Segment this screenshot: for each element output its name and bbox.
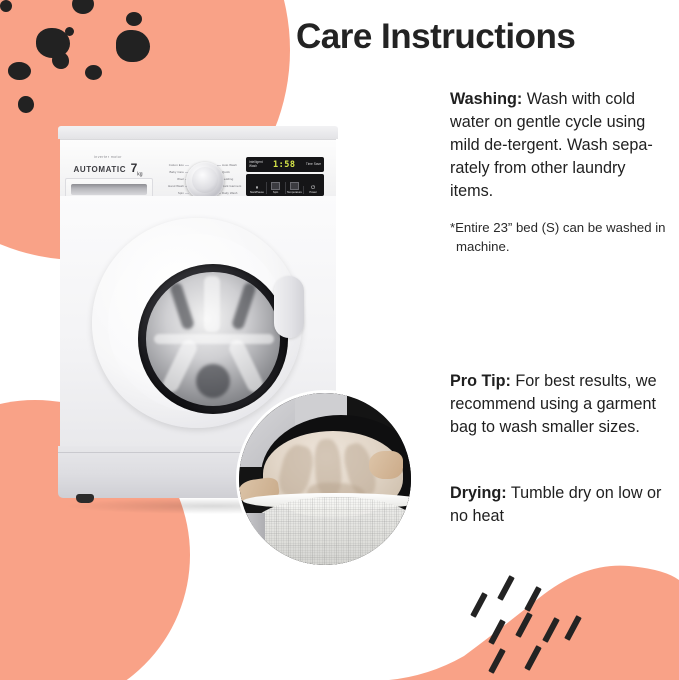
protip-section: Pro Tip: For best results, we recommend … [450, 370, 672, 439]
decorative-dot-4 [65, 27, 74, 36]
machine-top-panel [58, 126, 338, 139]
drying-section: Drying: Tumble dry on low or no heat [450, 482, 672, 528]
washing-paragraph: Washing: Wash with cold water on gentle … [450, 88, 670, 203]
detergent-drawer-handle[interactable] [71, 184, 147, 195]
program-tick-r-1 [217, 165, 221, 166]
decorative-dot-3 [116, 30, 150, 62]
door-handle[interactable] [274, 276, 304, 338]
inset-photo-laundry-bag [236, 390, 414, 568]
program-label-l-2: Baby Care [158, 170, 184, 174]
washing-label: Washing: [450, 90, 522, 108]
lcd-time-value: 1:58 [273, 160, 295, 170]
program-dial-inner[interactable] [192, 167, 218, 193]
machine-button-label: Spin [273, 191, 278, 194]
washing-footnote: *Entire 23” bed (S) can be washed in mac… [450, 219, 670, 256]
machine-button-label: Temperature [287, 191, 302, 194]
spin-icon [271, 182, 280, 190]
machine-button-row: ⏸Start/PauseSpinTemperature⏻Power [246, 174, 324, 196]
machine-control-panel: inverter motor AUTOMATIC 7kg Cotton EcoB… [60, 139, 336, 197]
decorative-dot-7 [85, 65, 102, 80]
mesh-laundry-bag [245, 497, 414, 568]
lcd-display: Intelligent Wash 1:58 Time Save [246, 157, 324, 172]
drum-spoke-top [204, 276, 220, 332]
inset-bed-trim-right [369, 451, 403, 479]
washing-section: Washing: Wash with cold water on gentle … [450, 88, 670, 256]
program-label-l-4: Hand Wash [158, 184, 184, 188]
decorative-dot-9 [126, 12, 142, 26]
protip-paragraph: Pro Tip: For best results, we recommend … [450, 370, 672, 439]
brand-name: AUTOMATIC [73, 165, 126, 174]
machine-button-start-pause[interactable]: ⏸Start/Pause [248, 186, 266, 195]
drum-shadow-bottom [196, 364, 230, 398]
page-title: Care Instructions [296, 18, 666, 57]
machine-button-temperature[interactable]: Temperature [285, 182, 304, 194]
door-gasket-ring [138, 264, 288, 414]
machine-brand: inverter motor AUTOMATIC 7kg [66, 156, 150, 177]
program-dial[interactable] [186, 162, 224, 200]
mesh-texture [245, 497, 414, 568]
drying-label: Drying: [450, 484, 507, 502]
program-tick-l-5 [185, 193, 189, 194]
drum-spoke-left [161, 337, 200, 394]
program-label-r-2: Quick [222, 170, 248, 174]
program-label-r-3: Bedding [222, 177, 248, 181]
machine-button-label: Start/Pause [250, 191, 264, 194]
machine-foot [76, 494, 94, 503]
decorative-dot-10 [0, 0, 12, 12]
drum-spoke-right [227, 337, 266, 394]
inset-door-edge [239, 513, 265, 568]
lcd-left-label: Intelligent Wash [249, 161, 263, 168]
door-glass-drum [146, 272, 280, 406]
temperature-icon [290, 182, 299, 190]
machine-button-spin[interactable]: Spin [266, 182, 285, 194]
decorative-dot-5 [52, 52, 69, 69]
program-label-l-1: Cotton Eco [158, 163, 184, 167]
drum-shadow-left [169, 281, 195, 330]
drum-spoke-cross [154, 334, 274, 344]
machine-button-power[interactable]: ⏻Power [303, 186, 322, 195]
protip-label: Pro Tip: [450, 372, 511, 390]
lcd-right-label: Time Save [306, 163, 321, 167]
drum-shadow-right [231, 281, 257, 330]
program-label-r-4: Dark Garment [222, 184, 248, 188]
program-label-l-3: Wool [158, 177, 184, 181]
program-tick-l-1 [185, 165, 189, 166]
brand-subtitle: inverter motor [66, 156, 150, 160]
drying-paragraph: Drying: Tumble dry on low or no heat [450, 482, 672, 528]
door-outer-ring [108, 234, 286, 412]
decorative-dot-8 [18, 96, 34, 113]
care-instructions-page: Care Instructions Washing: Wash with col… [0, 0, 679, 680]
machine-capacity: 7kg [131, 161, 143, 175]
program-label-r-1: Auto Wash [222, 163, 248, 167]
machine-capacity-unit: kg [137, 171, 142, 177]
program-label-l-5: Spin [158, 191, 184, 195]
decorative-dot-6 [8, 62, 31, 80]
machine-button-label: Power [309, 191, 317, 194]
